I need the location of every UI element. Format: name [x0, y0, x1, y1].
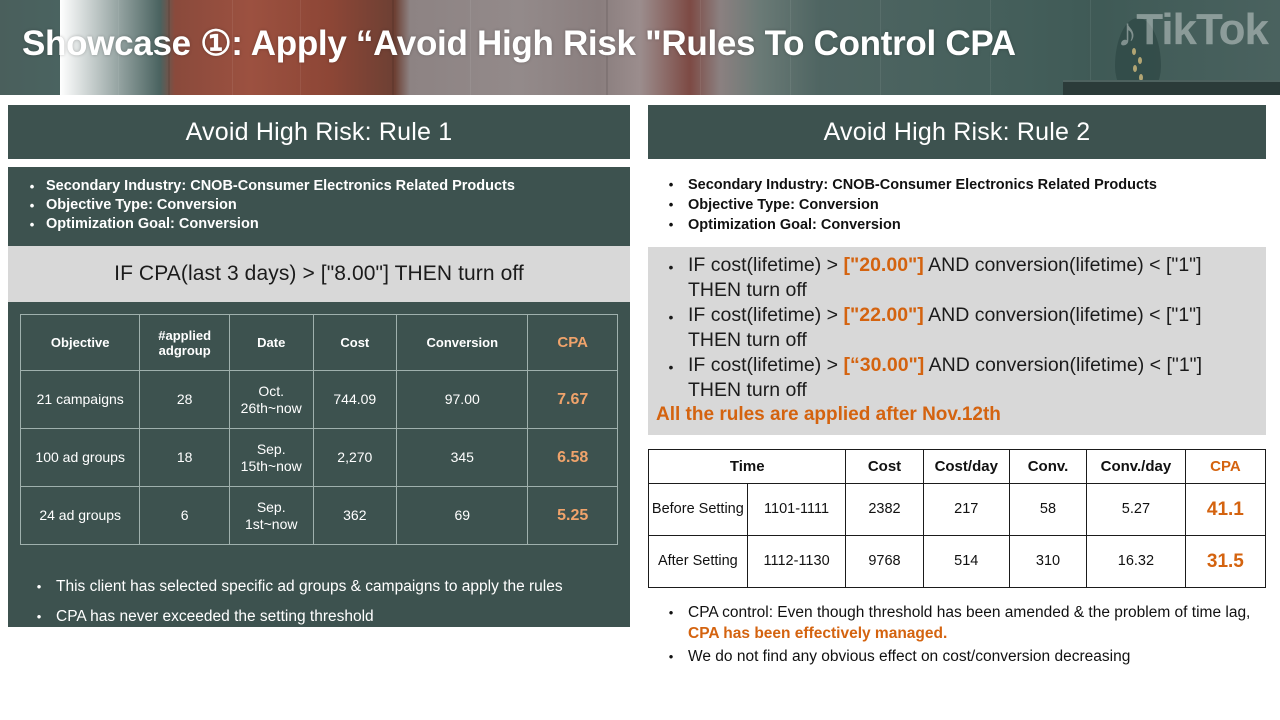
- table-header-row: Time Cost Cost/day Conv. Conv./day CPA: [649, 450, 1266, 484]
- note-pre: CPA control: Even though threshold has b…: [688, 604, 1250, 621]
- rule-threshold: ["20.00"]: [844, 254, 924, 276]
- col-applied-adgroup: #applied adgroup: [140, 315, 230, 371]
- left-note-text: CPA has never exceeded the setting thres…: [56, 606, 374, 627]
- table-row: Before Setting 1101-1111 2382 217 58 5.2…: [649, 484, 1266, 536]
- bullet-icon: •: [654, 253, 688, 280]
- cell-cpa: 31.5: [1185, 536, 1265, 588]
- cell-conversion: 345: [397, 429, 528, 487]
- cell-applied-adgroup: 18: [140, 429, 230, 487]
- cell-objective: 100 ad groups: [21, 429, 140, 487]
- bullet-icon: •: [18, 177, 46, 196]
- cell-conv: 310: [1009, 536, 1086, 588]
- tiktok-logo: ♪TikTok: [1117, 8, 1268, 52]
- note-highlight: CPA has been effectively managed.: [688, 625, 947, 642]
- right-meta-text: Optimization Goal: Conversion: [688, 215, 901, 235]
- cell-conversion: 97.00: [397, 371, 528, 429]
- bullet-icon: •: [654, 175, 688, 195]
- cell-objective: 24 ad groups: [21, 487, 140, 545]
- table-row: 21 campaigns 28 Oct. 26th~now 744.09 97.…: [21, 371, 618, 429]
- left-meta-text: Objective Type: Conversion: [46, 196, 237, 215]
- list-item: • Optimization Goal: Conversion: [648, 215, 1266, 235]
- right-meta-text: Objective Type: Conversion: [688, 195, 879, 215]
- bullet-icon: •: [18, 196, 46, 215]
- left-meta-list: • Secondary Industry: CNOB-Consumer Elec…: [8, 167, 630, 246]
- left-note-text: This client has selected specific ad gro…: [56, 576, 563, 597]
- rule-text: IF cost(lifetime) > ["20.00"] AND conver…: [688, 253, 1258, 303]
- page-title: Showcase ①: Apply “Avoid High Risk "Rule…: [22, 24, 1016, 64]
- col-cost: Cost: [846, 450, 923, 484]
- cell-date: Sep. 1st~now: [229, 487, 313, 545]
- col-applied-adgroup-label: #applied adgroup: [158, 328, 211, 358]
- right-notes-list: • CPA control: Even though threshold has…: [648, 602, 1266, 667]
- background-shelf: [1063, 80, 1280, 95]
- right-meta-list: • Secondary Industry: CNOB-Consumer Elec…: [648, 175, 1266, 235]
- bullet-icon: •: [654, 646, 688, 667]
- rule-pre: IF cost(lifetime) >: [688, 354, 844, 376]
- tiktok-wordmark: TikTok: [1136, 5, 1268, 54]
- rule-pre: IF cost(lifetime) >: [688, 304, 844, 326]
- bullet-icon: •: [654, 353, 688, 380]
- cell-cpa: 5.25: [528, 487, 618, 545]
- table-row: 100 ad groups 18 Sep. 15th~now 2,270 345…: [21, 429, 618, 487]
- table-row: 24 ad groups 6 Sep. 1st~now 362 69 5.25: [21, 487, 618, 545]
- slide-root: ♪TikTok Showcase ①: Apply “Avoid High Ri…: [0, 0, 1280, 720]
- cell-phase: Before Setting: [649, 484, 748, 536]
- bullet-icon: •: [22, 576, 56, 597]
- left-table-container: Objective #applied adgroup Date Cost Con…: [8, 302, 630, 561]
- list-item: • Objective Type: Conversion: [648, 195, 1266, 215]
- cell-cost: 744.09: [313, 371, 397, 429]
- cell-cpa: 7.67: [528, 371, 618, 429]
- table-header-row: Objective #applied adgroup Date Cost Con…: [21, 315, 618, 371]
- bullet-icon: •: [654, 602, 688, 623]
- rules-footer-note: All the rules are applied after Nov.12th: [654, 403, 1258, 427]
- right-metrics-table: Time Cost Cost/day Conv. Conv./day CPA B…: [648, 449, 1266, 588]
- col-cpa: CPA: [528, 315, 618, 371]
- rule-threshold: ["22.00"]: [844, 304, 924, 326]
- list-item: • CPA control: Even though threshold has…: [648, 602, 1266, 644]
- list-item: • CPA has never exceeded the setting thr…: [8, 597, 630, 627]
- cell-applied-adgroup: 28: [140, 371, 230, 429]
- col-conv-day: Conv./day: [1087, 450, 1186, 484]
- list-item: • IF cost(lifetime) > ["20.00"] AND conv…: [654, 253, 1258, 303]
- cell-cost: 2,270: [313, 429, 397, 487]
- cell-cpa: 6.58: [528, 429, 618, 487]
- list-item: • Objective Type: Conversion: [8, 196, 630, 215]
- cell-date: Sep. 15th~now: [229, 429, 313, 487]
- header-banner: ♪TikTok Showcase ①: Apply “Avoid High Ri…: [0, 0, 1280, 95]
- left-panel: Avoid High Risk: Rule 1 • Secondary Indu…: [8, 105, 630, 710]
- list-item: • IF cost(lifetime) > [“30.00"] AND conv…: [654, 353, 1258, 403]
- left-rule-statement: IF CPA(last 3 days) > ["8.00"] THEN turn…: [8, 246, 630, 302]
- cell-objective: 21 campaigns: [21, 371, 140, 429]
- cell-conv-day: 5.27: [1087, 484, 1186, 536]
- col-cost: Cost: [313, 315, 397, 371]
- right-note-text: CPA control: Even though threshold has b…: [688, 602, 1262, 644]
- rule-text: IF cost(lifetime) > ["22.00"] AND conver…: [688, 303, 1258, 353]
- cell-conv: 58: [1009, 484, 1086, 536]
- rule-pre: IF cost(lifetime) >: [688, 254, 844, 276]
- col-conv: Conv.: [1009, 450, 1086, 484]
- list-item: • We do not find any obvious effect on c…: [648, 644, 1266, 667]
- list-item: • IF cost(lifetime) > ["22.00"] AND conv…: [654, 303, 1258, 353]
- col-cpa: CPA: [1185, 450, 1265, 484]
- cell-cost-day: 217: [923, 484, 1009, 536]
- bullet-icon: •: [654, 195, 688, 215]
- right-meta-text: Secondary Industry: CNOB-Consumer Electr…: [688, 175, 1157, 195]
- bullet-icon: •: [654, 215, 688, 235]
- bullet-icon: •: [654, 303, 688, 330]
- col-conversion: Conversion: [397, 315, 528, 371]
- cell-range: 1112-1130: [747, 536, 846, 588]
- cell-cpa: 41.1: [1185, 484, 1265, 536]
- cell-conv-day: 16.32: [1087, 536, 1186, 588]
- col-objective: Objective: [21, 315, 140, 371]
- left-meta-text: Optimization Goal: Conversion: [46, 215, 259, 234]
- cell-applied-adgroup: 6: [140, 487, 230, 545]
- cell-range: 1101-1111: [747, 484, 846, 536]
- right-note-text: We do not find any obvious effect on cos…: [688, 646, 1130, 667]
- list-item: • Optimization Goal: Conversion: [8, 215, 630, 234]
- bullet-icon: •: [22, 606, 56, 627]
- cell-date: Oct. 26th~now: [229, 371, 313, 429]
- col-time: Time: [649, 450, 846, 484]
- list-item: • Secondary Industry: CNOB-Consumer Elec…: [648, 175, 1266, 195]
- left-panel-header: Avoid High Risk: Rule 1: [8, 105, 630, 159]
- right-rules-box: • IF cost(lifetime) > ["20.00"] AND conv…: [648, 247, 1266, 435]
- cell-cost: 2382: [846, 484, 923, 536]
- cell-cost: 362: [313, 487, 397, 545]
- music-note-icon: ♪: [1117, 13, 1136, 53]
- rule-text: IF cost(lifetime) > [“30.00"] AND conver…: [688, 353, 1258, 403]
- left-notes-list: • This client has selected specific ad g…: [8, 561, 630, 627]
- left-meta-text: Secondary Industry: CNOB-Consumer Electr…: [46, 177, 515, 196]
- left-metrics-table: Objective #applied adgroup Date Cost Con…: [20, 314, 618, 545]
- right-panel-header: Avoid High Risk: Rule 2: [648, 105, 1266, 159]
- list-item: • Secondary Industry: CNOB-Consumer Elec…: [8, 177, 630, 196]
- cell-conversion: 69: [397, 487, 528, 545]
- cell-phase: After Setting: [649, 536, 748, 588]
- bullet-icon: •: [18, 215, 46, 234]
- col-date: Date: [229, 315, 313, 371]
- right-panel: Avoid High Risk: Rule 2 • Secondary Indu…: [648, 105, 1266, 705]
- list-item: • This client has selected specific ad g…: [8, 567, 630, 597]
- table-row: After Setting 1112-1130 9768 514 310 16.…: [649, 536, 1266, 588]
- rule-threshold: [“30.00"]: [844, 354, 925, 376]
- cell-cost: 9768: [846, 536, 923, 588]
- col-cost-day: Cost/day: [923, 450, 1009, 484]
- cell-cost-day: 514: [923, 536, 1009, 588]
